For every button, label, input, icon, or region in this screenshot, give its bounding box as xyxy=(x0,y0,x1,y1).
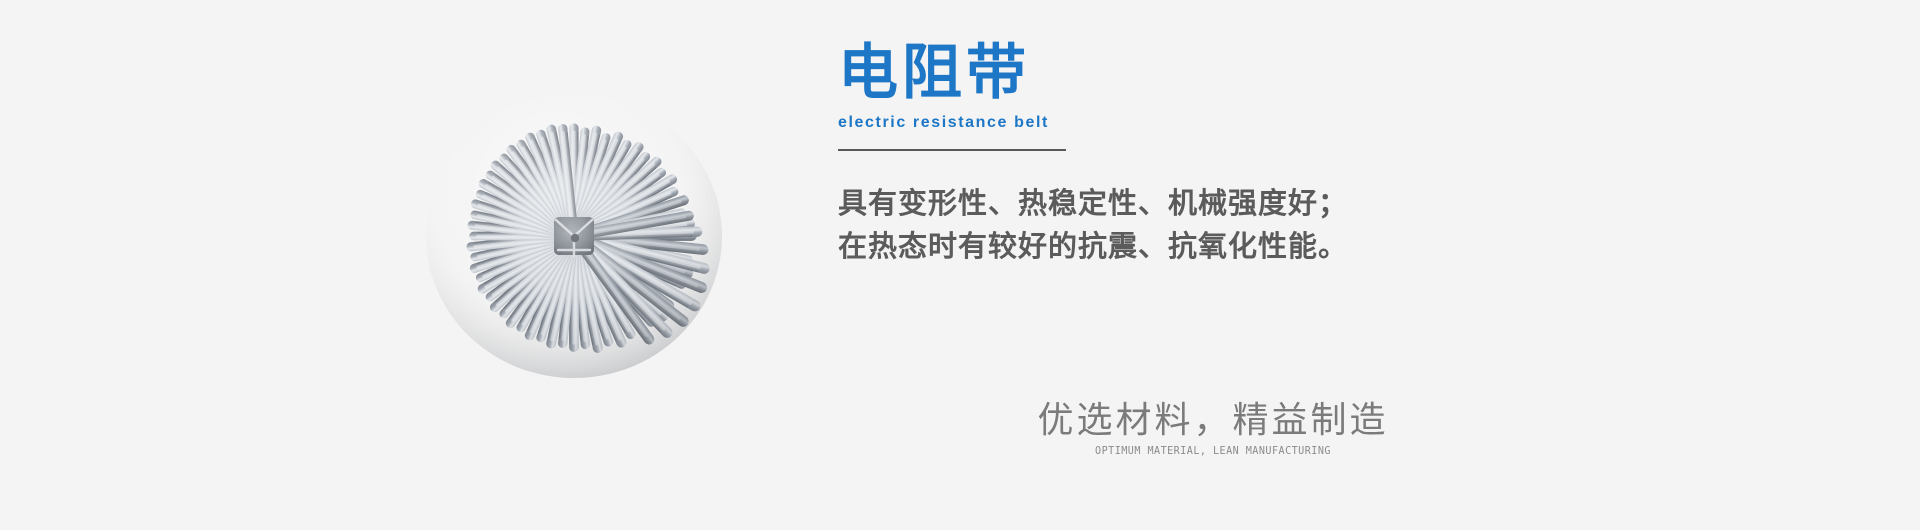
description-text: 具有变形性、热稳定性、机械强度好； 在热态时有较好的抗震、抗氧化性能。 xyxy=(838,183,1798,269)
tagline-block: 优选材料，精益制造 OPTIMUM MATERIAL, LEAN MANUFAC… xyxy=(953,398,1473,458)
product-image xyxy=(352,60,802,435)
product-banner: 电阻带 electric resistance belt 具有变形性、热稳定性、… xyxy=(0,0,1920,530)
tagline-english: OPTIMUM MATERIAL, LEAN MANUFACTURING xyxy=(974,444,1452,458)
description-line-1: 具有变形性、热稳定性、机械强度好； xyxy=(838,183,1798,226)
tagline-chinese: 优选材料，精益制造 xyxy=(953,398,1473,442)
page-title: 电阻带 xyxy=(838,40,1798,106)
title-divider xyxy=(838,149,1066,151)
text-column: 电阻带 electric resistance belt 具有变形性、热稳定性、… xyxy=(838,40,1798,269)
page-subtitle: electric resistance belt xyxy=(838,114,1798,132)
description-line-2: 在热态时有较好的抗震、抗氧化性能。 xyxy=(838,226,1798,269)
resistance-belt-coil-icon xyxy=(352,60,802,435)
